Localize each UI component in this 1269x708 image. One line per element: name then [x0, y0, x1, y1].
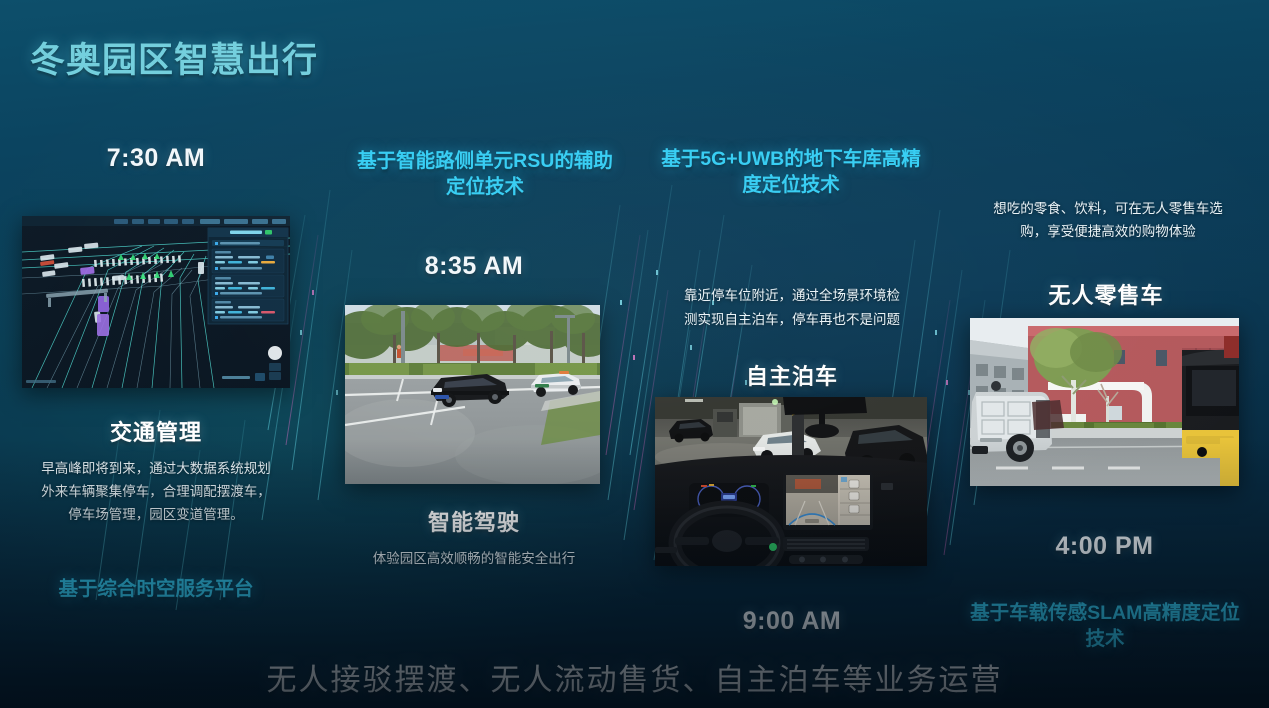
column-1-time: 7:30 AM [22, 144, 290, 173]
column-3-time: 9:00 AM [658, 607, 926, 636]
page-title: 冬奥园区智慧出行 [30, 32, 318, 83]
slide-canvas: 7:30 AM [0, 0, 1269, 708]
car-interior-parking-assist-photo [655, 397, 927, 566]
unmanned-retail-vehicle-photo [970, 318, 1239, 486]
traffic-management-dashboard [22, 216, 290, 388]
street-autonomous-driving-photo [345, 305, 600, 484]
column-2-section-title: 智能驾驶 [340, 505, 608, 537]
column-4-section-title: 无人零售车 [970, 278, 1242, 310]
column-1-tech-tag: 基于综合时空服务平台 [28, 576, 284, 602]
column-2-time: 8:35 AM [340, 252, 608, 281]
column-3-section-title: 自主泊车 [658, 359, 926, 391]
column-3-body: 靠近停车位附近，通过全场景环境检测实现自主泊车，停车再也不是问题 [680, 284, 904, 332]
column-3-tech-tag: 基于5G+UWB的地下车库高精度定位技术 [655, 146, 927, 199]
column-4-time: 4:00 PM [970, 532, 1239, 561]
bottom-caption: 无人接驳摆渡、无人流动售货、自主泊车等业务运营 [0, 655, 1269, 699]
column-4-body: 想吃的零食、饮料，可在无人零售车选购，享受便捷高效的购物体验 [990, 197, 1226, 243]
column-2-tech-tag: 基于智能路侧单元RSU的辅助定位技术 [356, 148, 614, 201]
column-2-body: 体验园区高效顺畅的智能安全出行 [360, 547, 588, 570]
column-1-section-title: 交通管理 [22, 415, 290, 447]
column-1-body: 早高峰即将到来，通过大数据系统规划外来车辆聚集停车，合理调配摆渡车，停车场管理，… [38, 457, 274, 527]
column-4-tech-tag: 基于车载传感SLAM高精度定位技术 [962, 600, 1248, 653]
